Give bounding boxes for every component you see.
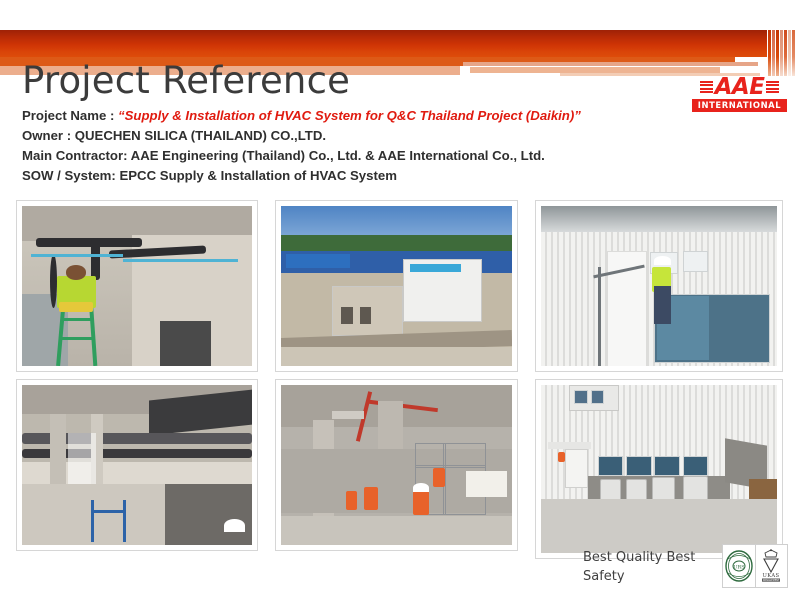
- urs-seal-icon: URS: [724, 549, 754, 583]
- banner-comb-bar-1: [768, 30, 771, 76]
- aae-logo-subtitle: INTERNATIONAL: [692, 99, 787, 112]
- photo-exterior-building-condenser-units[interactable]: [535, 379, 783, 559]
- svg-text:URS: URS: [733, 565, 745, 571]
- certification-logos: URS UKAS MANAGEMENT: [722, 544, 788, 588]
- photo-image: [541, 206, 777, 366]
- photo-hvac-duct-installation-worker-ladder[interactable]: [16, 200, 258, 372]
- svg-text:MANAGEMENT: MANAGEMENT: [763, 579, 780, 582]
- photo-image: [281, 206, 512, 366]
- banner-comb-bar-4: [780, 30, 783, 76]
- photo-image: [22, 206, 252, 366]
- banner-comb-bar-3: [776, 30, 779, 76]
- page-title: Project Reference: [22, 62, 722, 99]
- ukas-crown-icon: UKAS MANAGEMENT: [758, 548, 784, 584]
- banner-comb-bar-5: [784, 30, 787, 76]
- banner-gradient-band: [0, 30, 767, 57]
- photo-aerial-site-overview-buildings[interactable]: [275, 200, 518, 372]
- meta-line-project-name: Project Name : “Supply & Installation of…: [22, 106, 722, 126]
- aae-logo-row: AAE: [692, 76, 787, 98]
- urs-certification-mark: URS: [723, 545, 755, 587]
- meta-line-owner: Owner : QUECHEN SILICA (THAILAND) CO.,LT…: [22, 126, 722, 146]
- photo-worker-on-ladder-exterior-wall[interactable]: [535, 200, 783, 372]
- photo-image: [22, 385, 252, 545]
- title-block: Project Reference Project Name : “Supply…: [22, 62, 722, 186]
- meta-label-project-name: Project Name :: [22, 108, 118, 123]
- photo-image: [541, 385, 777, 553]
- ukas-certification-mark: UKAS MANAGEMENT: [755, 545, 788, 587]
- aae-logo-left-bars-icon: [700, 81, 713, 94]
- aae-logo-right-bars-icon: [766, 81, 779, 94]
- banner-comb-bar-6: [788, 30, 791, 76]
- footer-tagline: Best Quality Best Safety: [583, 549, 718, 587]
- photo-interior-workers-scaffolding[interactable]: [275, 379, 518, 551]
- banner-comb-bar-2: [772, 30, 775, 76]
- meta-value-project-name: “Supply & Installation of HVAC System fo…: [118, 108, 581, 123]
- banner-comb-bar-7: [792, 30, 795, 76]
- meta-line-sow-system: SOW / System: EPCC Supply & Installation…: [22, 166, 722, 186]
- aae-logo-text: AAE: [713, 76, 767, 99]
- aae-logo: AAE INTERNATIONAL: [692, 76, 787, 110]
- photo-image: [281, 385, 512, 545]
- meta-line-main-contractor: Main Contractor: AAE Engineering (Thaila…: [22, 146, 722, 166]
- photo-interior-duct-ceiling-installation[interactable]: [16, 379, 258, 551]
